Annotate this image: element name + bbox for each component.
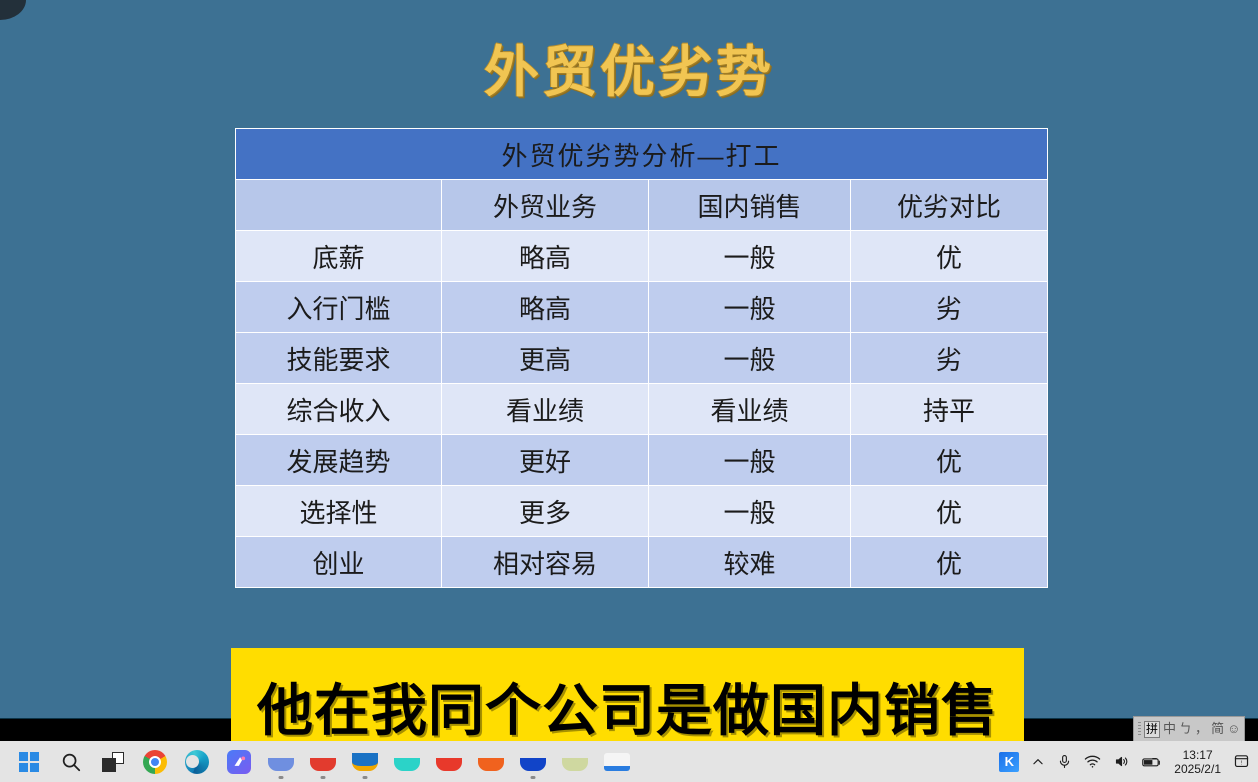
search-button[interactable]	[50, 744, 92, 780]
clock[interactable]: 13:17 2025/2/1	[1174, 748, 1221, 776]
table-cell: 更高	[442, 333, 649, 384]
app-7-active-indicator	[279, 776, 284, 779]
comparison-table-container: 外贸优劣势分析—打工外贸业务国内销售优劣对比底薪略高一般优入行门槛略高一般劣技能…	[231, 124, 1051, 593]
notifications-icon[interactable]: !	[1233, 753, 1250, 770]
app-7-button[interactable]	[260, 744, 302, 780]
table-cell: 底薪	[236, 231, 442, 282]
app-8-icon	[310, 758, 336, 771]
table-cell: 看业绩	[442, 384, 649, 435]
chrome-button[interactable]	[134, 744, 176, 780]
presentation-slide: 外贸优劣势 外贸优劣势分析—打工外贸业务国内销售优劣对比底薪略高一般优入行门槛略…	[0, 0, 1258, 718]
table-cell: 一般	[649, 282, 851, 333]
app-9-button[interactable]	[344, 744, 386, 780]
table-cell: 综合收入	[236, 384, 442, 435]
table-cell: 选择性	[236, 486, 442, 537]
app-10-icon	[394, 758, 420, 771]
app-12-button[interactable]	[470, 744, 512, 780]
table-cell: 一般	[649, 231, 851, 282]
app-12-icon	[478, 758, 504, 771]
search-icon	[60, 751, 82, 773]
app-15-button[interactable]	[596, 744, 638, 780]
table-header-cell-2: 国内销售	[649, 180, 851, 231]
table-header-cell-0	[236, 180, 442, 231]
app-blue-button[interactable]	[218, 744, 260, 780]
app-13-button[interactable]	[512, 744, 554, 780]
taskbar-app-list	[0, 744, 638, 780]
ime-toolbar[interactable]: 拼 中 ㄅ ， 简 ☺	[1133, 716, 1245, 742]
table-header-cell-1: 外贸业务	[442, 180, 649, 231]
app-13-active-indicator	[531, 776, 536, 779]
volume-icon[interactable]	[1113, 754, 1130, 769]
table-cell: 一般	[649, 435, 851, 486]
ime-drag-handle[interactable]	[1138, 722, 1141, 736]
table-cell: 看业绩	[649, 384, 851, 435]
chrome-icon	[143, 750, 167, 774]
table-cell: 相对容易	[442, 537, 649, 588]
table-row: 创业相对容易较难优	[236, 537, 1048, 588]
table-banner-cell: 外贸优劣势分析—打工	[236, 129, 1048, 180]
table-header-cell-3: 优劣对比	[851, 180, 1048, 231]
table-cell: 更好	[442, 435, 649, 486]
clock-date: 2025/2/1	[1174, 762, 1221, 776]
table-cell: 略高	[442, 282, 649, 333]
task-view-icon	[102, 752, 124, 772]
table-cell: 优	[851, 435, 1048, 486]
svg-text:!: !	[1241, 760, 1243, 766]
table-cell: 技能要求	[236, 333, 442, 384]
ime-tray-icon[interactable]: K	[999, 752, 1019, 772]
app-11-button[interactable]	[428, 744, 470, 780]
ime-emoji-icon[interactable]: ☺	[1227, 721, 1240, 737]
table-row: 入行门槛略高一般劣	[236, 282, 1048, 333]
taskbar: K	[0, 741, 1258, 782]
app-8-button[interactable]	[302, 744, 344, 780]
table-cell: 优	[851, 231, 1048, 282]
table-cell: 发展趋势	[236, 435, 442, 486]
battery-icon[interactable]	[1142, 755, 1162, 769]
table-cell: 更多	[442, 486, 649, 537]
subtitle-text: 他在我同个公司是做国内销售	[257, 666, 998, 747]
table-cell: 劣	[851, 282, 1048, 333]
microphone-icon[interactable]	[1057, 754, 1072, 769]
page-title: 外贸优劣势	[0, 44, 1258, 102]
table-cell: 优	[851, 486, 1048, 537]
table-cell: 一般	[649, 333, 851, 384]
table-cell: 较难	[649, 537, 851, 588]
app-13-icon	[520, 758, 546, 771]
table-row: 综合收入看业绩看业绩持平	[236, 384, 1048, 435]
table-header-row: 外贸业务国内销售优劣对比	[236, 180, 1048, 231]
app-icon	[227, 750, 251, 774]
table-cell: 一般	[649, 486, 851, 537]
table-row: 选择性更多一般优	[236, 486, 1048, 537]
table-cell: 略高	[442, 231, 649, 282]
app-9-active-indicator	[363, 776, 368, 779]
table-row: 发展趋势更好一般优	[236, 435, 1048, 486]
ime-keyboard-icon[interactable]: ㄅ	[1179, 721, 1192, 737]
comparison-table: 外贸优劣势分析—打工外贸业务国内销售优劣对比底薪略高一般优入行门槛略高一般劣技能…	[235, 128, 1048, 588]
app-10-button[interactable]	[386, 744, 428, 780]
system-tray: K	[999, 748, 1258, 776]
app-7-icon	[268, 758, 294, 771]
table-row: 底薪略高一般优	[236, 231, 1048, 282]
app-14-button[interactable]	[554, 744, 596, 780]
table-row: 技能要求更高一般劣	[236, 333, 1048, 384]
app-15-icon	[604, 753, 630, 771]
edge-icon	[185, 750, 209, 774]
table-banner-row: 外贸优劣势分析—打工	[236, 129, 1048, 180]
task-view-button[interactable]	[92, 744, 134, 780]
wifi-icon[interactable]	[1084, 754, 1101, 769]
table-cell: 劣	[851, 333, 1048, 384]
ime-mode-icon[interactable]: 拼	[1144, 721, 1160, 738]
ime-simplified-icon[interactable]: 简	[1211, 721, 1224, 737]
clock-time: 13:17	[1183, 748, 1213, 762]
table-cell: 持平	[851, 384, 1048, 435]
windows-logo-icon	[19, 752, 39, 772]
table-cell: 入行门槛	[236, 282, 442, 333]
ime-punctuation-icon[interactable]: ，	[1195, 721, 1208, 737]
screen: 外贸优劣势 外贸优劣势分析—打工外贸业务国内销售优劣对比底薪略高一般优入行门槛略…	[0, 0, 1258, 782]
app-11-icon	[436, 758, 462, 771]
table-cell: 优	[851, 537, 1048, 588]
show-hidden-icons-chevron-up-icon[interactable]	[1031, 755, 1045, 769]
table-cell: 创业	[236, 537, 442, 588]
start-button[interactable]	[8, 744, 50, 780]
app-14-icon	[562, 758, 588, 771]
app-8-active-indicator	[321, 776, 326, 779]
app-9-icon	[352, 753, 378, 771]
edge-button[interactable]	[176, 744, 218, 780]
ime-language-icon[interactable]: 中	[1163, 721, 1176, 737]
